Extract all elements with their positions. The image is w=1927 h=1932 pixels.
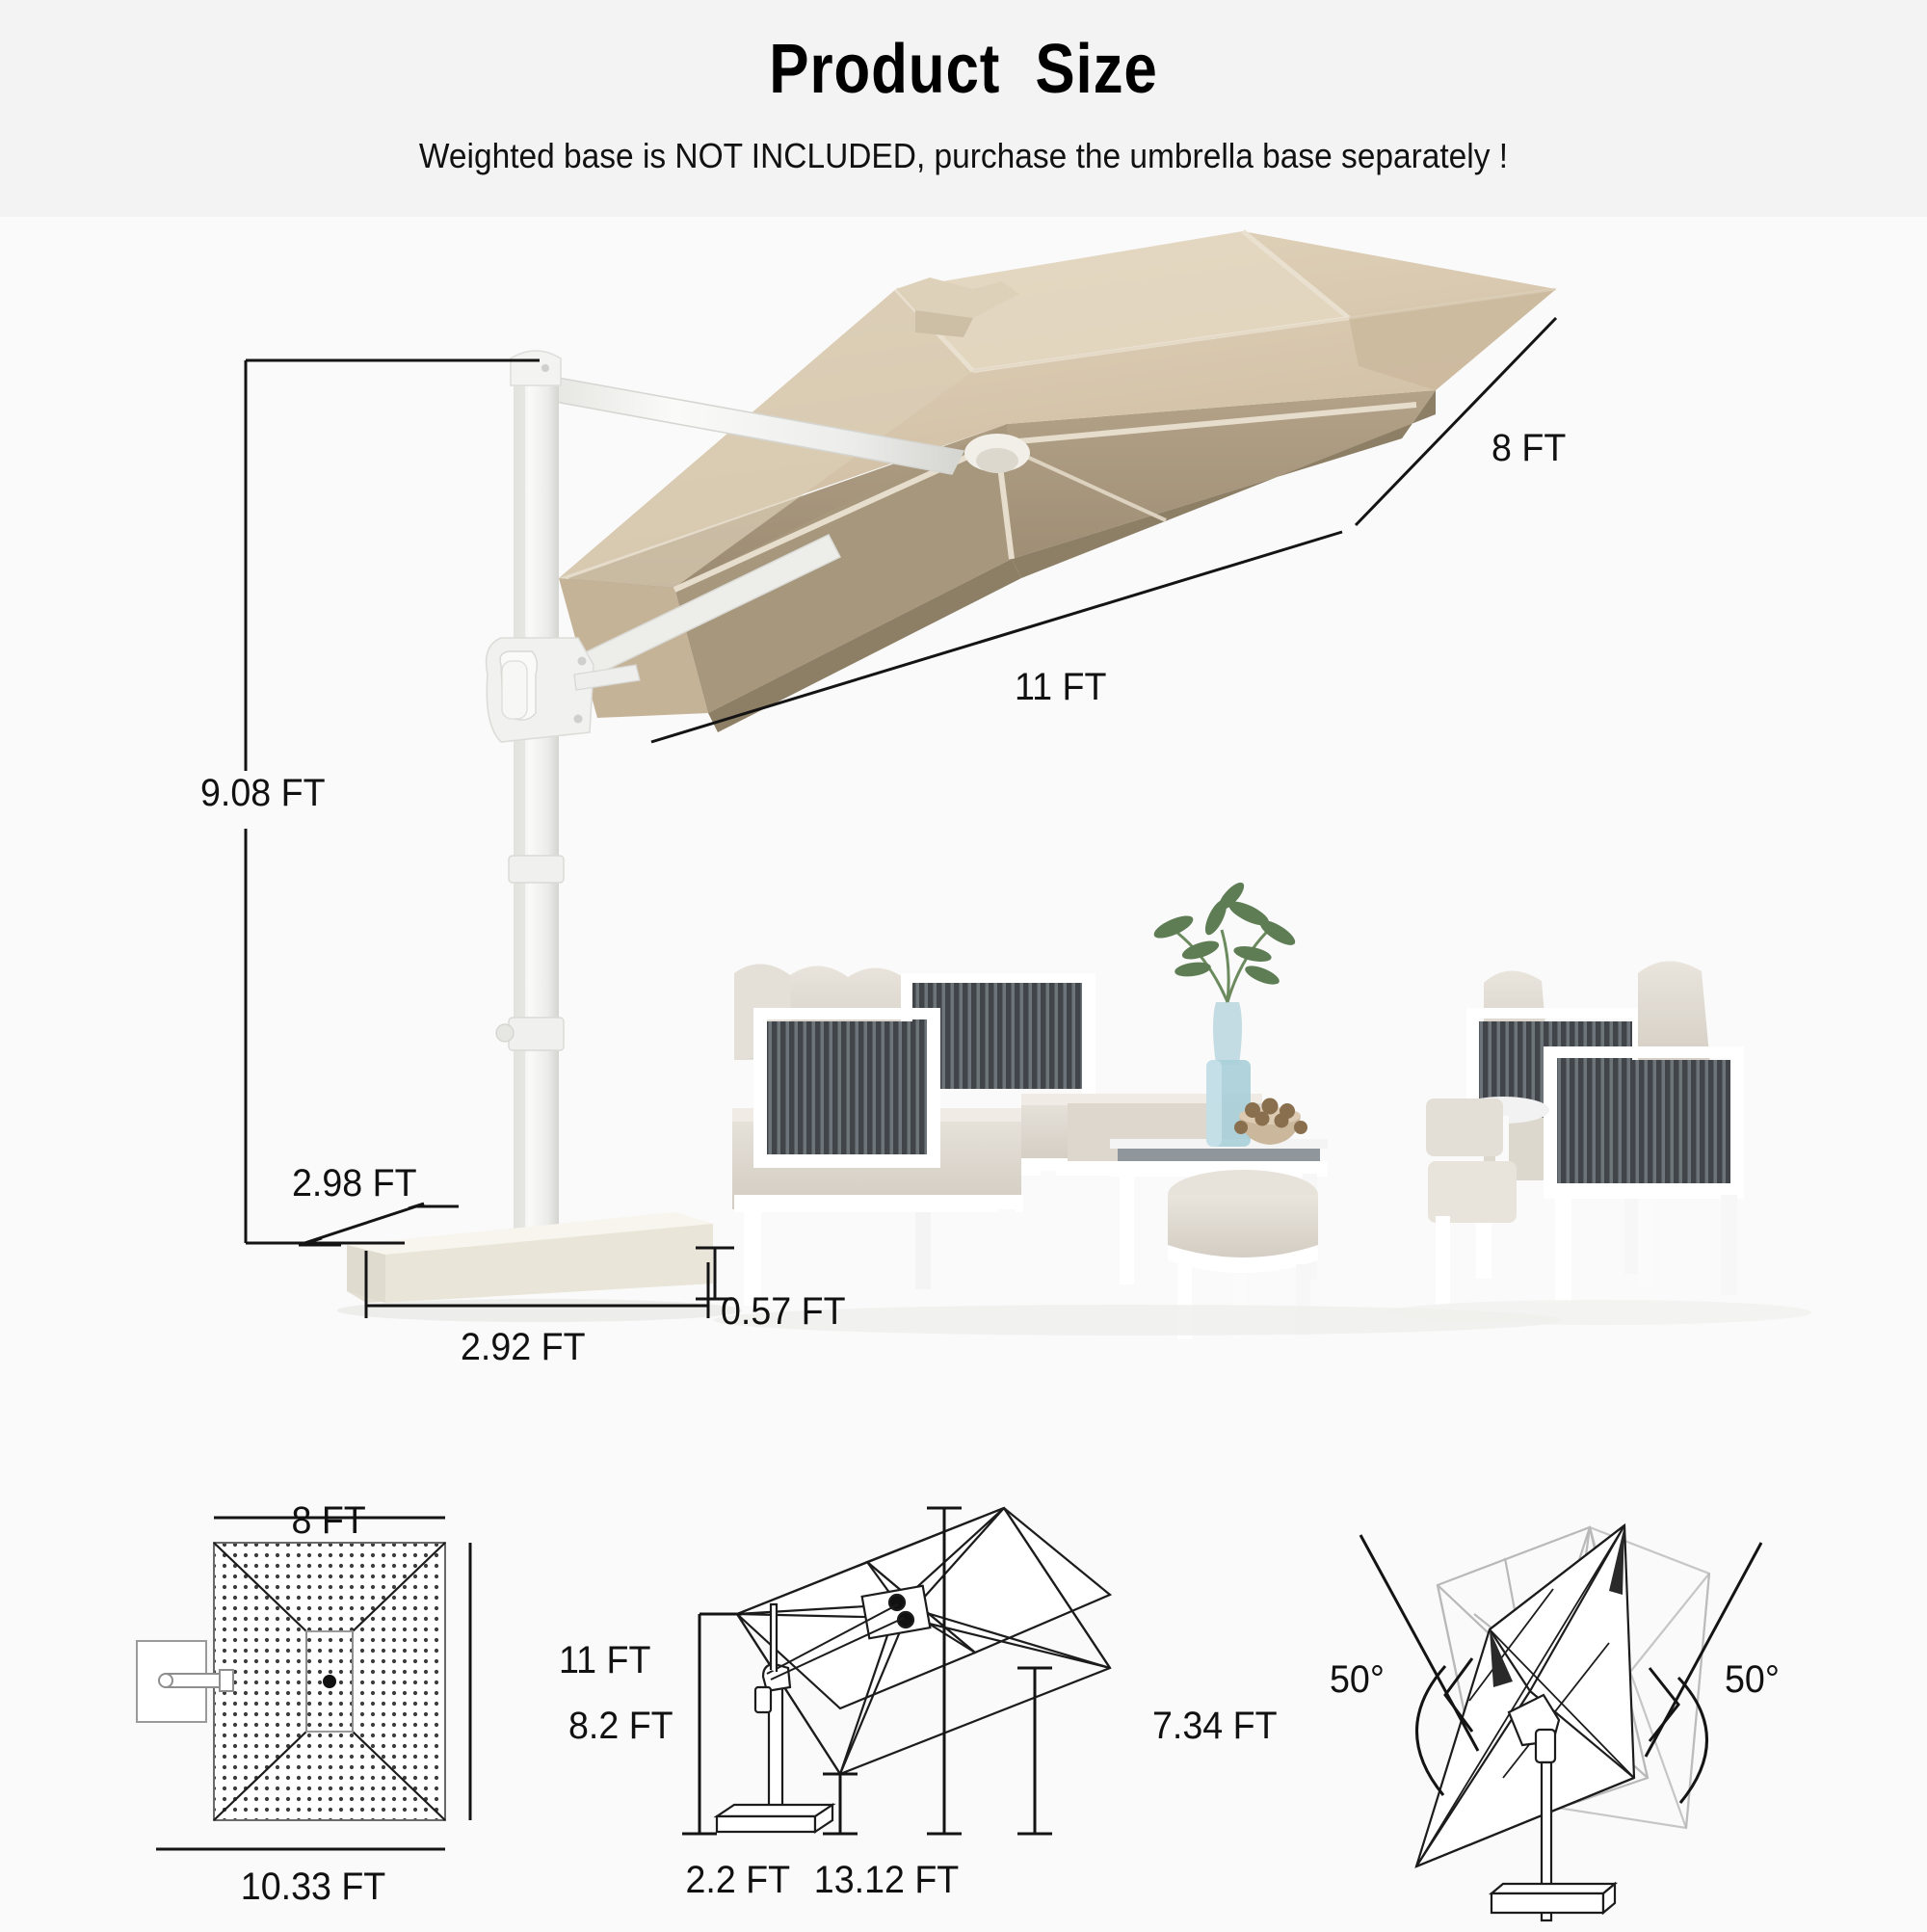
chair-cushion-2 [1428,1161,1517,1223]
dim-base-width: 2.92 FT [461,1325,586,1369]
dim-base-depth: 2.98 FT [292,1161,417,1205]
dim-tilt-right: 50° [1725,1657,1780,1702]
umbrella-canopy [559,231,1556,732]
chair-cushion [1426,1098,1503,1156]
dim-top-width: 8 FT [291,1498,365,1543]
tilt-view-drawing [1301,1489,1917,1922]
dim-overall-height: 9.08 FT [200,771,326,815]
dim-canopy-width: 11 FT [1015,665,1106,709]
dim-base-offset: 2.2 FT [685,1858,790,1902]
dim-total-reach: 13.12 FT [814,1858,959,1902]
product-size-diagram: Product Size Weighted base is NOT INCLUD… [0,0,1927,1927]
dim-pole-height: 8.2 FT [568,1704,673,1748]
main-illustration [0,0,1927,1397]
dim-top-span: 10.33 FT [241,1865,385,1909]
patio-furniture-scene [713,879,1811,1339]
dim-top-height: 11 FT [559,1638,650,1682]
dim-base-height: 0.57 FT [721,1289,846,1334]
dim-canopy-depth: 8 FT [1491,426,1566,470]
dim-tilt-left: 50° [1330,1657,1385,1702]
dim-canopy-clearance: 7.34 FT [1152,1704,1278,1748]
